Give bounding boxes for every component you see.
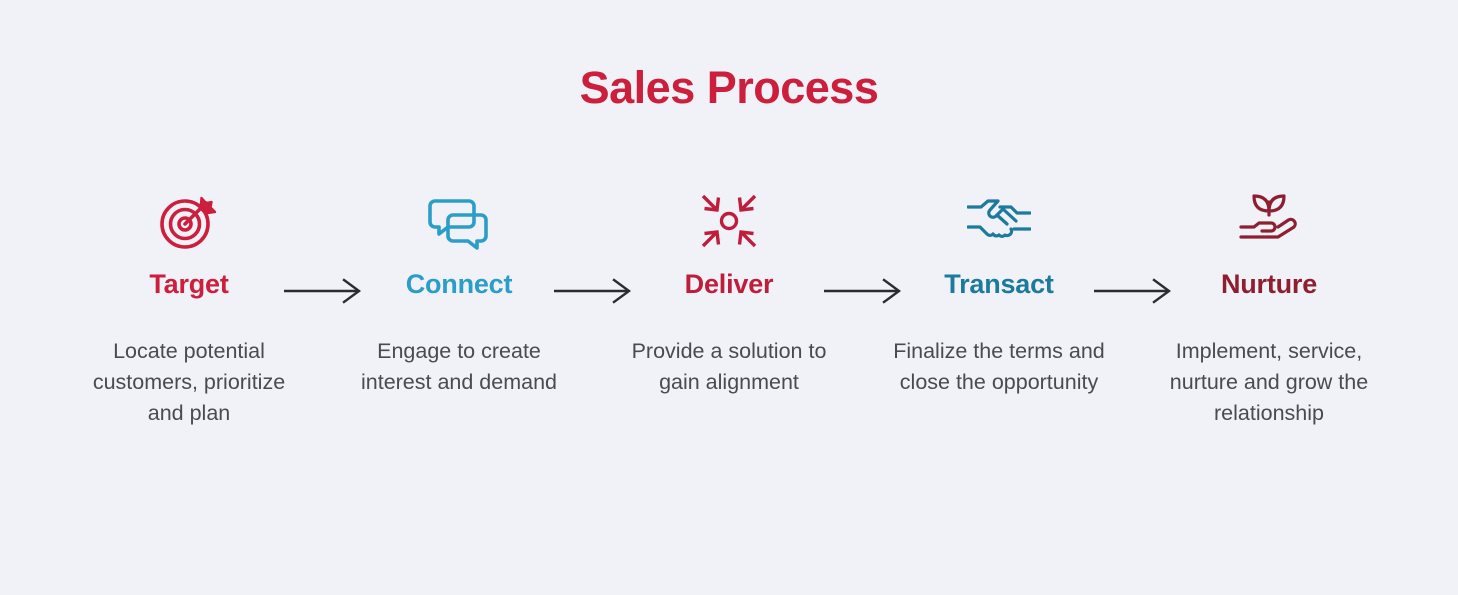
- step-label-target: Target: [149, 270, 228, 300]
- process-step-connect: Connect Engage to create interest and de…: [351, 190, 567, 398]
- connector-arrow-2: [567, 190, 621, 304]
- step-label-connect: Connect: [406, 270, 513, 300]
- step-description-target: Locate potential customers, prioritize a…: [82, 336, 297, 430]
- process-steps-row: Target Locate potential customers, prior…: [0, 190, 1458, 430]
- step-label-deliver: Deliver: [685, 270, 774, 300]
- step-label-transact: Transact: [944, 270, 1053, 300]
- connector-arrow-1: [297, 190, 351, 304]
- converging-arrows-icon: [698, 190, 760, 252]
- process-step-nurture: Nurture Implement, service, nurture and …: [1161, 190, 1377, 430]
- speech-bubbles-icon: [428, 190, 490, 252]
- step-description-nurture: Implement, service, nurture and grow the…: [1162, 336, 1377, 430]
- page-title: Sales Process: [0, 62, 1458, 114]
- connector-arrow-4: [1107, 190, 1161, 304]
- target-dartboard-icon: [158, 190, 220, 252]
- sales-process-infographic: Sales Process Target Locate potential cu…: [0, 0, 1458, 595]
- connector-arrow-3: [837, 190, 891, 304]
- process-step-transact: Transact Finalize the terms and close th…: [891, 190, 1107, 398]
- step-description-transact: Finalize the terms and close the opportu…: [892, 336, 1107, 399]
- process-step-target: Target Locate potential customers, prior…: [81, 190, 297, 430]
- process-step-deliver: Deliver Provide a solution to gain align…: [621, 190, 837, 398]
- step-description-deliver: Provide a solution to gain alignment: [622, 336, 837, 399]
- handshake-icon: [967, 190, 1031, 252]
- step-label-nurture: Nurture: [1221, 270, 1317, 300]
- sprout-in-hand-icon: [1238, 190, 1300, 252]
- step-description-connect: Engage to create interest and demand: [352, 336, 567, 399]
